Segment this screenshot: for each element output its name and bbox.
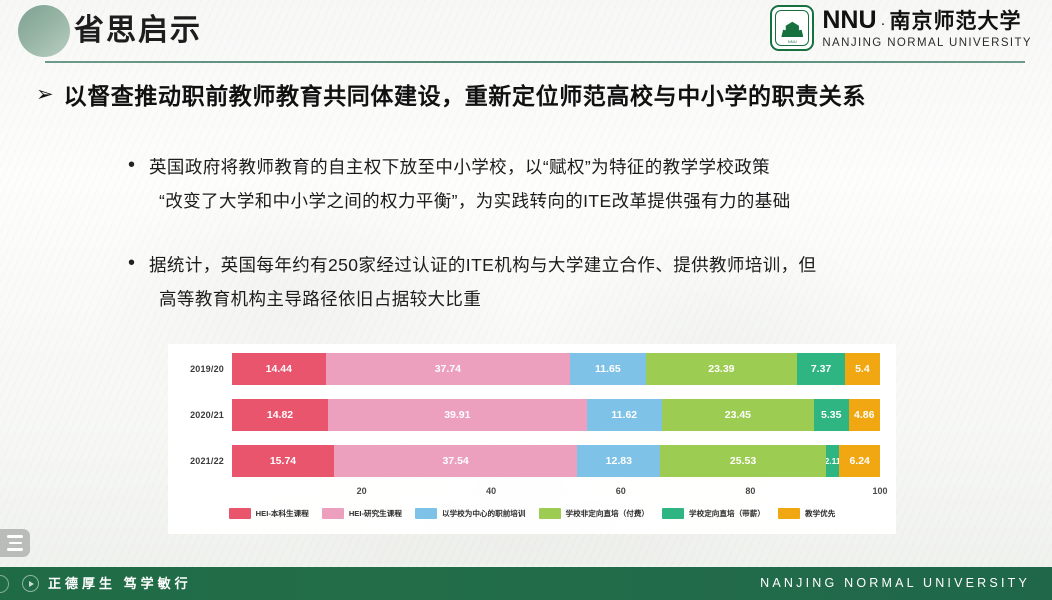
list-item: • 据统计，英国每年约有250家经过认证的ITE机构与大学建立合作、提供教师培训… [128, 248, 948, 316]
bullet-text: 英国政府将教师教育的自主权下放至中小学校，以“赋权”为特征的教学学校政策 “改变… [149, 150, 791, 218]
legend-swatch [415, 508, 437, 519]
chart-bar: 14.8239.9111.6223.455.354.86 [232, 399, 880, 431]
chart-row: 2020/2114.8239.9111.6223.455.354.86 [168, 398, 896, 432]
logo-text-block: NNU · 南京师范大学 NANJING NORMAL UNIVERSITY [822, 7, 1032, 48]
page-title: 省思启示 [74, 10, 202, 52]
chart-row-label: 2019/20 [168, 364, 232, 374]
menu-icon[interactable] [0, 529, 30, 557]
list-item: • 英国政府将教师教育的自主权下放至中小学校，以“赋权”为特征的教学学校政策 “… [128, 150, 948, 218]
legend-item[interactable]: 学校非定向直培（付费） [539, 508, 650, 519]
chart-bar-segment: 5.4 [845, 353, 880, 385]
legend-label: 学校定向直培（带薪） [689, 508, 765, 519]
chart-row-label: 2020/21 [168, 410, 232, 420]
menu-line [9, 542, 22, 545]
chart-row: 2019/2014.4437.7411.6523.397.375.4 [168, 352, 896, 386]
footer-circle-icon [0, 575, 9, 593]
chart-bar-segment: 15.74 [232, 445, 334, 477]
axis-tick-label: 100 [872, 486, 887, 496]
chart-bar-segment: 23.39 [646, 353, 798, 385]
legend-item[interactable]: 学校定向直培（带薪） [662, 508, 765, 519]
legend-label: 学校非定向直培（付费） [566, 508, 650, 519]
legend-label: 以学校为中心的职前培训 [442, 508, 526, 519]
chart-bar-segment: 37.74 [326, 353, 571, 385]
arrow-bullet-icon: ➢ [36, 80, 54, 110]
chart-bar-segment: 37.54 [334, 445, 577, 477]
lead-heading-text: 以督查推动职前教师教育共同体建设，重新定位师范高校与中小学的职责关系 [64, 80, 866, 112]
bullet-list: • 英国政府将教师教育的自主权下放至中小学校，以“赋权”为特征的教学学校政策 “… [128, 150, 948, 346]
chart-bar-segment: 2.11 [826, 445, 840, 477]
chart-bar-segment: 25.53 [660, 445, 825, 477]
logo-abbr: NNU [822, 7, 876, 33]
axis-tick-label: 20 [357, 486, 367, 496]
axis-tick-label: 40 [486, 486, 496, 496]
chart-bar-segment: 23.45 [662, 399, 814, 431]
chart-bar-segment: 5.35 [814, 399, 849, 431]
emblem-abbr: NNU [772, 39, 812, 44]
header-divider [45, 61, 1025, 63]
chart-bar-segment: 11.65 [570, 353, 645, 385]
legend-item[interactable]: 以学校为中心的职前培训 [415, 508, 526, 519]
slide-footer: 正德厚生 笃学敏行 NANJING NORMAL UNIVERSITY [0, 567, 1052, 600]
chart-bar-segment: 11.62 [587, 399, 662, 431]
chart-bar-segment: 7.37 [797, 353, 845, 385]
logo-separator: · [881, 16, 886, 32]
legend-item[interactable]: HEI-研究生课程 [322, 508, 402, 519]
chart-bar-segment: 39.91 [328, 399, 587, 431]
menu-line [7, 548, 23, 551]
chart-row: 2021/2215.7437.5412.8325.532.116.24 [168, 444, 896, 478]
bullet-line-1: 据统计，英国每年约有250家经过认证的ITE机构与大学建立合作、提供教师培训，但 [149, 255, 816, 275]
legend-item[interactable]: 教学优先 [778, 508, 835, 519]
chart-rows: 2019/2014.4437.7411.6523.397.375.42020/2… [168, 352, 896, 490]
chart-row-label: 2021/22 [168, 456, 232, 466]
menu-line [7, 535, 23, 538]
chart-x-axis: 20406080100 [232, 486, 880, 500]
chart-bar: 14.4437.7411.6523.397.375.4 [232, 353, 880, 385]
chart-bar-segment: 4.86 [849, 399, 880, 431]
legend-label: HEI-研究生课程 [349, 508, 402, 519]
chart-bar: 15.7437.5412.8325.532.116.24 [232, 445, 880, 477]
play-icon[interactable] [22, 575, 39, 592]
chart-bar-segment: 14.44 [232, 353, 326, 385]
university-emblem-icon: NNU [770, 5, 814, 51]
legend-swatch [322, 508, 344, 519]
chart-legend: HEI-本科生课程HEI-研究生课程以学校为中心的职前培训学校非定向直培（付费）… [168, 508, 896, 519]
axis-tick-label: 80 [745, 486, 755, 496]
bullet-line-2: 高等教育机构主导路径依旧占据较大比重 [149, 282, 816, 316]
stacked-bar-chart: 2019/2014.4437.7411.6523.397.375.42020/2… [168, 344, 896, 534]
bullet-line-1: 英国政府将教师教育的自主权下放至中小学校，以“赋权”为特征的教学学校政策 [149, 157, 770, 177]
bullet-dot-icon: • [128, 150, 135, 180]
university-logo: NNU NNU · 南京师范大学 NANJING NORMAL UNIVERSI… [770, 5, 1032, 51]
lead-heading: ➢ 以督查推动职前教师教育共同体建设，重新定位师范高校与中小学的职责关系 [36, 80, 1026, 112]
legend-swatch [539, 508, 561, 519]
legend-label: HEI-本科生课程 [256, 508, 309, 519]
bullet-dot-icon: • [128, 248, 135, 278]
logo-name-en: NANJING NORMAL UNIVERSITY [822, 37, 1032, 49]
chart-bar-segment: 12.83 [577, 445, 660, 477]
footer-university-en: NANJING NORMAL UNIVERSITY [760, 567, 1030, 600]
footer-motto: 正德厚生 笃学敏行 [48, 567, 192, 600]
bullet-line-2: “改变了大学和中小学之间的权力平衡”，为实践转向的ITE改革提供强有力的基础 [149, 184, 791, 218]
chart-bar-segment: 6.24 [839, 445, 879, 477]
legend-item[interactable]: HEI-本科生课程 [229, 508, 309, 519]
legend-swatch [229, 508, 251, 519]
legend-swatch [662, 508, 684, 519]
slide-header: 省思启示 NNU NNU · 南京师范大学 NANJING NORMAL UNI… [0, 0, 1052, 66]
bullet-text: 据统计，英国每年约有250家经过认证的ITE机构与大学建立合作、提供教师培训，但… [149, 248, 816, 316]
legend-swatch [778, 508, 800, 519]
legend-label: 教学优先 [805, 508, 835, 519]
logo-name-cn: 南京师范大学 [890, 10, 1022, 32]
header-decor-circle [18, 5, 70, 57]
chart-bar-segment: 14.82 [232, 399, 328, 431]
axis-tick-label: 60 [616, 486, 626, 496]
